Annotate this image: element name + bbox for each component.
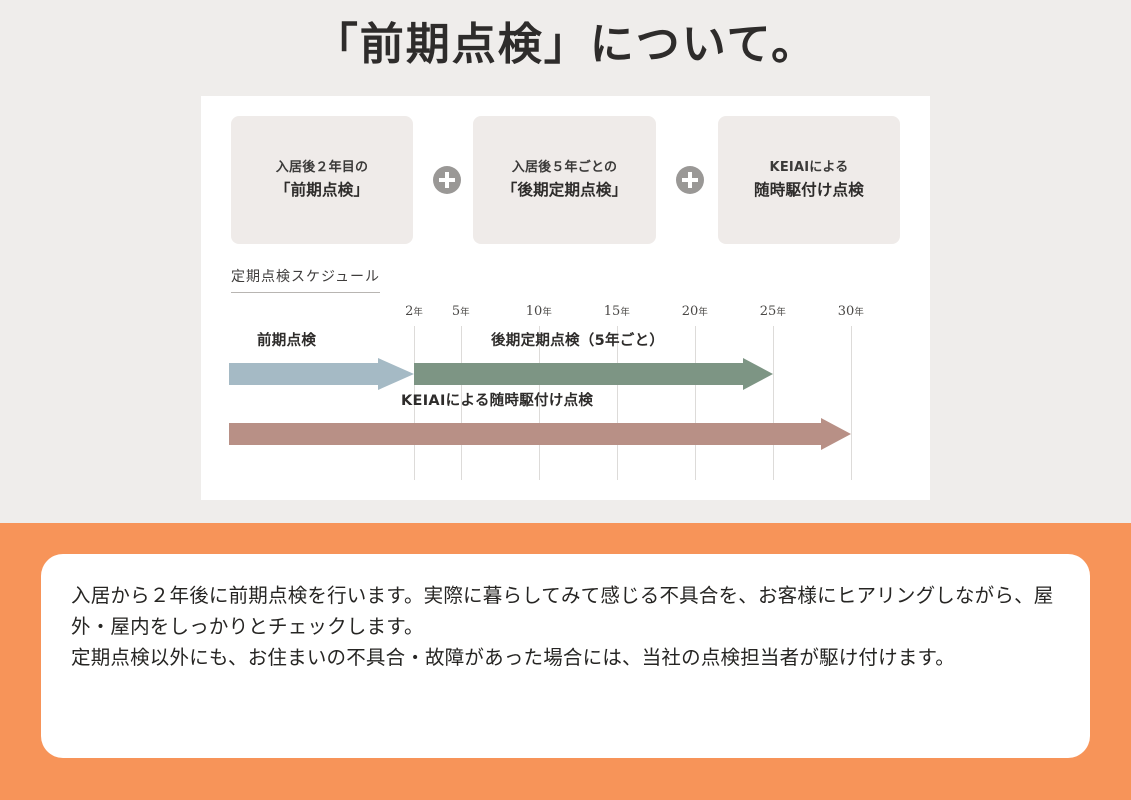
arrow-head	[378, 358, 414, 390]
feature-boxes-row: 入居後２年目の 「前期点検」 入居後５年ごとの 「後期定期点検」 KEIAIによ…	[231, 116, 900, 244]
arrow-head	[743, 358, 773, 390]
feature-box-line2: 「後期定期点検」	[502, 178, 628, 202]
timeline-tick-label: 20年	[682, 304, 708, 319]
timeline-arrow-label: KEIAIによる随時駆付け点検	[401, 389, 593, 410]
feature-box-oncall-inspection: KEIAIによる 随時駆付け点検	[718, 116, 900, 244]
plus-icon-bar-vertical	[445, 172, 449, 188]
page-title: 「前期点検」について。	[0, 17, 1131, 73]
timeline-tick-label: 10年	[526, 304, 552, 319]
schedule-heading: 定期点検スケジュール	[231, 266, 380, 293]
feature-box-line1: KEIAIによる	[770, 158, 849, 178]
timeline-arrow-1	[229, 363, 414, 385]
timeline-gridline	[851, 326, 852, 480]
plus-icon	[676, 166, 704, 194]
diagram-card: 入居後２年目の 「前期点検」 入居後５年ごとの 「後期定期点検」 KEIAIによ…	[201, 96, 930, 500]
timeline-tick-label: 15年	[604, 304, 630, 319]
plus-icon	[433, 166, 461, 194]
timeline-arrow-2	[414, 363, 773, 385]
feature-box-line2: 随時駆付け点検	[754, 178, 864, 202]
arrow-shaft	[229, 423, 821, 445]
timeline-tick-label: 5年	[452, 304, 470, 319]
plus-icon-bar-vertical	[688, 172, 692, 188]
arrow-shaft	[229, 363, 378, 385]
timeline-arrow-label: 前期点検	[257, 329, 316, 350]
feature-box-periodic-inspection: 入居後５年ごとの 「後期定期点検」	[473, 116, 656, 244]
feature-box-line2: 「前期点検」	[275, 178, 369, 202]
feature-box-early-inspection: 入居後２年目の 「前期点検」	[231, 116, 413, 244]
feature-box-line1: 入居後５年ごとの	[512, 158, 617, 178]
note-text: 入居から２年後に前期点検を行います。実際に暮らしてみて感じる不具合を、お客様にヒ…	[71, 580, 1060, 673]
timeline-gridline	[773, 326, 774, 480]
timeline-gridline	[695, 326, 696, 480]
arrow-shaft	[414, 363, 743, 385]
note-panel: 入居から２年後に前期点検を行います。実際に暮らしてみて感じる不具合を、お客様にヒ…	[41, 554, 1090, 758]
timeline-arrow-3	[229, 423, 851, 445]
feature-box-line1: 入居後２年目の	[276, 158, 368, 178]
top-section: 「前期点検」について。 入居後２年目の 「前期点検」 入居後５年ごとの 「後期定…	[0, 0, 1131, 523]
schedule-timeline-chart: 2年5年10年15年20年25年30年前期点検後期定期点検（5年ごと）KEIAI…	[201, 301, 930, 486]
timeline-tick-label: 30年	[838, 304, 864, 319]
arrow-head	[821, 418, 851, 450]
timeline-tick-label: 25年	[760, 304, 786, 319]
timeline-tick-label: 2年	[405, 304, 423, 319]
timeline-arrow-label: 後期定期点検（5年ごと）	[491, 329, 664, 350]
